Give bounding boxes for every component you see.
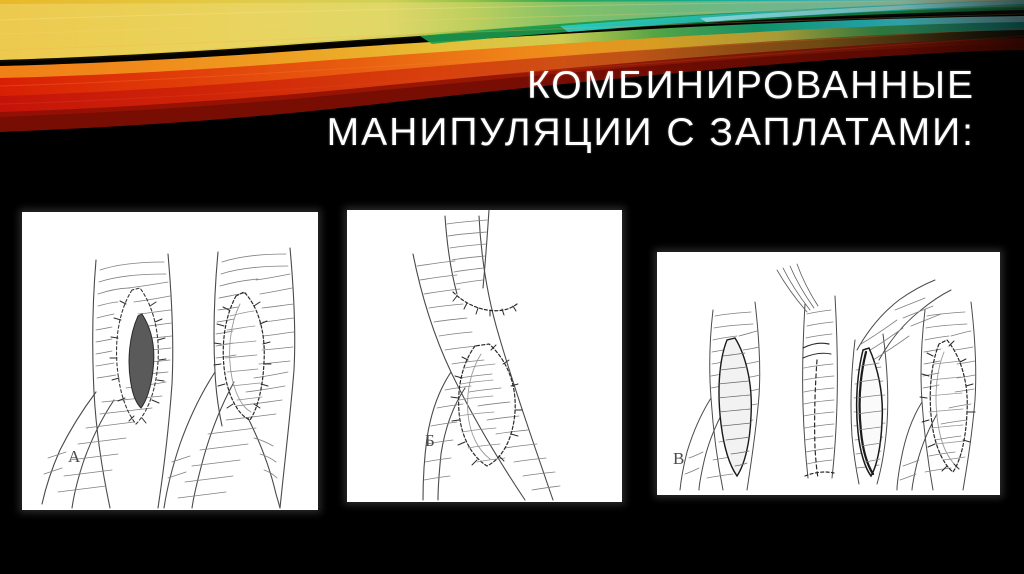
- slide-title-line-1: КОМБИНИРОВАННЫЕ: [120, 62, 975, 109]
- slide-title-line-2: МАНИПУЛЯЦИИ С ЗАПЛАТАМИ:: [120, 109, 975, 156]
- figure-label-c: В: [673, 450, 684, 467]
- vascular-patch-illustration-c: [657, 252, 1000, 495]
- figure-label-a: А: [68, 448, 80, 465]
- figure-panel-b: Б: [347, 210, 622, 502]
- presentation-slide: КОМБИНИРОВАННЫЕ МАНИПУЛЯЦИИ С ЗАПЛАТАМИ:: [0, 0, 1024, 574]
- vascular-patch-illustration-b: [347, 210, 622, 502]
- slide-title: КОМБИНИРОВАННЫЕ МАНИПУЛЯЦИИ С ЗАПЛАТАМИ:: [120, 62, 975, 156]
- figure-panel-c: В: [657, 252, 1000, 495]
- figure-label-b: Б: [425, 432, 435, 449]
- vascular-patch-illustration-a: [22, 212, 318, 510]
- figure-panel-a: А: [22, 212, 318, 510]
